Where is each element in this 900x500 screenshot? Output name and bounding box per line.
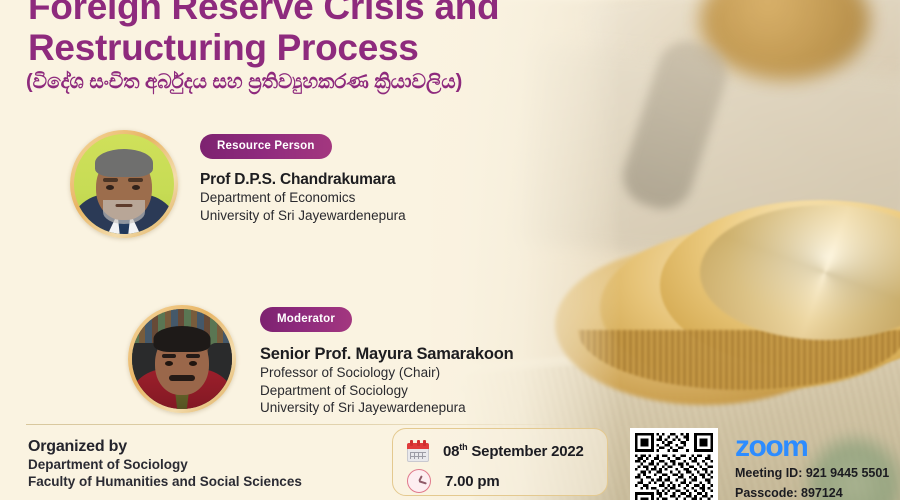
speaker-affiliation-line-1: Professor of Sociology (Chair) bbox=[260, 364, 514, 382]
event-date-row: 08th September 2022 bbox=[407, 438, 607, 464]
webinar-poster: Foreign Reserve Crisis and Restructuring… bbox=[0, 0, 900, 500]
event-date-suffix: th bbox=[459, 442, 467, 452]
zoom-logo: zoom bbox=[735, 432, 889, 462]
event-datetime-card: 08th September 2022 7.00 pm bbox=[392, 428, 608, 496]
speaker-resource-person: Resource Person Prof D.P.S. Chandrakumar… bbox=[70, 130, 406, 238]
zoom-meeting-id: Meeting ID: 921 9445 5501 bbox=[735, 465, 889, 482]
avatar bbox=[74, 134, 174, 234]
speaker-name: Senior Prof. Mayura Samarakoon bbox=[260, 345, 514, 364]
poster-content: Foreign Reserve Crisis and Restructuring… bbox=[0, 0, 900, 500]
event-time: 7.00 pm bbox=[445, 473, 499, 490]
role-badge-moderator: Moderator bbox=[260, 307, 352, 332]
speaker-affiliation-line-3: University of Sri Jayewardenepura bbox=[260, 399, 514, 417]
speaker-affiliation-line-2: University of Sri Jayewardenepura bbox=[200, 207, 406, 225]
footer-divider bbox=[26, 424, 586, 425]
calendar-icon bbox=[407, 440, 429, 462]
organizer-line-2: Faculty of Humanities and Social Science… bbox=[28, 473, 302, 490]
event-date-day: 08 bbox=[443, 443, 459, 460]
page-subtitle-sinhala: (විදේශ සංචිත අර්බුදය සහ ප්‍රතිව්‍යුහකරණ … bbox=[26, 70, 596, 94]
event-time-row: 7.00 pm bbox=[407, 468, 607, 494]
organizer-heading: Organized by bbox=[28, 438, 302, 456]
speaker-affiliation-line-2: Department of Sociology bbox=[260, 382, 514, 400]
zoom-passcode: Passcode: 897124 bbox=[735, 485, 889, 500]
avatar-ring bbox=[128, 305, 236, 413]
event-date-rest: September 2022 bbox=[471, 443, 583, 460]
organizer-block: Organized by Department of Sociology Fac… bbox=[28, 438, 302, 490]
avatar-ring bbox=[70, 130, 178, 238]
role-badge-resource-person: Resource Person bbox=[200, 134, 332, 159]
speaker-name: Prof D.P.S. Chandrakumara bbox=[200, 171, 406, 189]
clock-icon bbox=[407, 469, 431, 493]
speaker-details: Moderator Senior Prof. Mayura Samarakoon… bbox=[260, 305, 514, 417]
qr-code-matrix bbox=[635, 433, 713, 500]
speaker-details: Resource Person Prof D.P.S. Chandrakumar… bbox=[200, 130, 406, 224]
organizer-line-1: Department of Sociology bbox=[28, 456, 302, 473]
event-date: 08th September 2022 bbox=[443, 442, 584, 460]
speaker-moderator: Moderator Senior Prof. Mayura Samarakoon… bbox=[128, 305, 514, 417]
qr-code[interactable] bbox=[630, 428, 718, 500]
page-title: Foreign Reserve Crisis and Restructuring… bbox=[28, 0, 588, 68]
speaker-affiliation-line-1: Department of Economics bbox=[200, 189, 406, 207]
avatar bbox=[132, 309, 232, 409]
zoom-details: zoom Meeting ID: 921 9445 5501 Passcode:… bbox=[735, 432, 889, 500]
